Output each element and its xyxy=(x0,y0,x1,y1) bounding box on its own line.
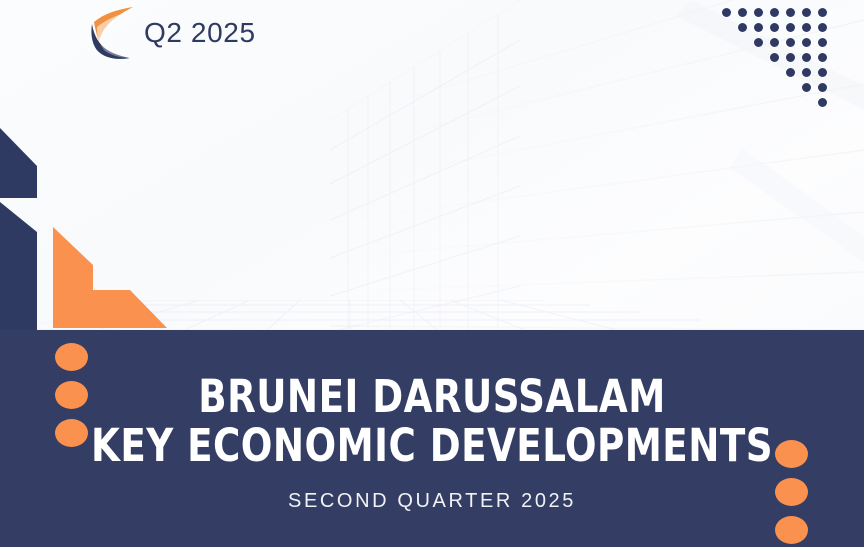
grid-dot xyxy=(754,8,763,17)
grid-dot xyxy=(738,23,747,32)
grid-dot xyxy=(818,68,827,77)
brand-logo-block: Q2 2025 xyxy=(88,6,256,62)
grid-dot xyxy=(770,23,779,32)
orange-l-chevron xyxy=(53,227,167,328)
title-line-1: BRUNEI DARUSSALAM xyxy=(35,372,830,421)
grid-dot xyxy=(786,68,795,77)
navy-angled-bar-bottom xyxy=(0,202,37,330)
grid-dot xyxy=(818,53,827,62)
grid-dot xyxy=(770,53,779,62)
grid-dot xyxy=(818,38,827,47)
page-title: BRUNEI DARUSSALAM KEY ECONOMIC DEVELOPME… xyxy=(35,372,830,470)
grid-dot xyxy=(754,38,763,47)
grid-dot xyxy=(802,23,811,32)
grid-dot xyxy=(754,23,763,32)
orange-ellipse-icon xyxy=(775,478,808,506)
grid-dot xyxy=(722,8,731,17)
grid-dot xyxy=(802,68,811,77)
grid-dot xyxy=(802,83,811,92)
grid-dot xyxy=(802,8,811,17)
title-line-2: KEY ECONOMIC DEVELOPMENTS xyxy=(35,421,830,470)
grid-dot xyxy=(770,8,779,17)
left-geometric-decoration xyxy=(0,110,175,330)
quarter-label: Q2 2025 xyxy=(144,19,256,49)
grid-dot xyxy=(786,38,795,47)
grid-dot xyxy=(818,23,827,32)
orange-ellipse-icon xyxy=(55,343,88,371)
grid-dot xyxy=(786,23,795,32)
orange-ellipse-icon xyxy=(775,516,808,544)
ribbon-swoosh-logo-icon xyxy=(88,6,140,62)
grid-dot xyxy=(738,8,747,17)
title-banner: BRUNEI DARUSSALAM KEY ECONOMIC DEVELOPME… xyxy=(0,330,864,547)
grid-dot xyxy=(786,8,795,17)
grid-dot xyxy=(802,53,811,62)
triangular-dot-grid-icon xyxy=(722,0,834,96)
grid-dot xyxy=(818,8,827,17)
navy-angled-bar-top xyxy=(0,128,37,198)
grid-dot xyxy=(818,83,827,92)
orange-ellipse-icon xyxy=(775,440,808,468)
grid-dot xyxy=(786,53,795,62)
grid-dot xyxy=(818,98,827,107)
right-ellipse-group xyxy=(775,440,809,547)
grid-dot xyxy=(802,38,811,47)
grid-dot xyxy=(770,38,779,47)
page-subtitle: SECOND QUARTER 2025 xyxy=(0,490,864,513)
cover-slide: Q2 2025 BRUNEI DARUSSALAM KEY ECONOMIC D… xyxy=(0,0,864,547)
